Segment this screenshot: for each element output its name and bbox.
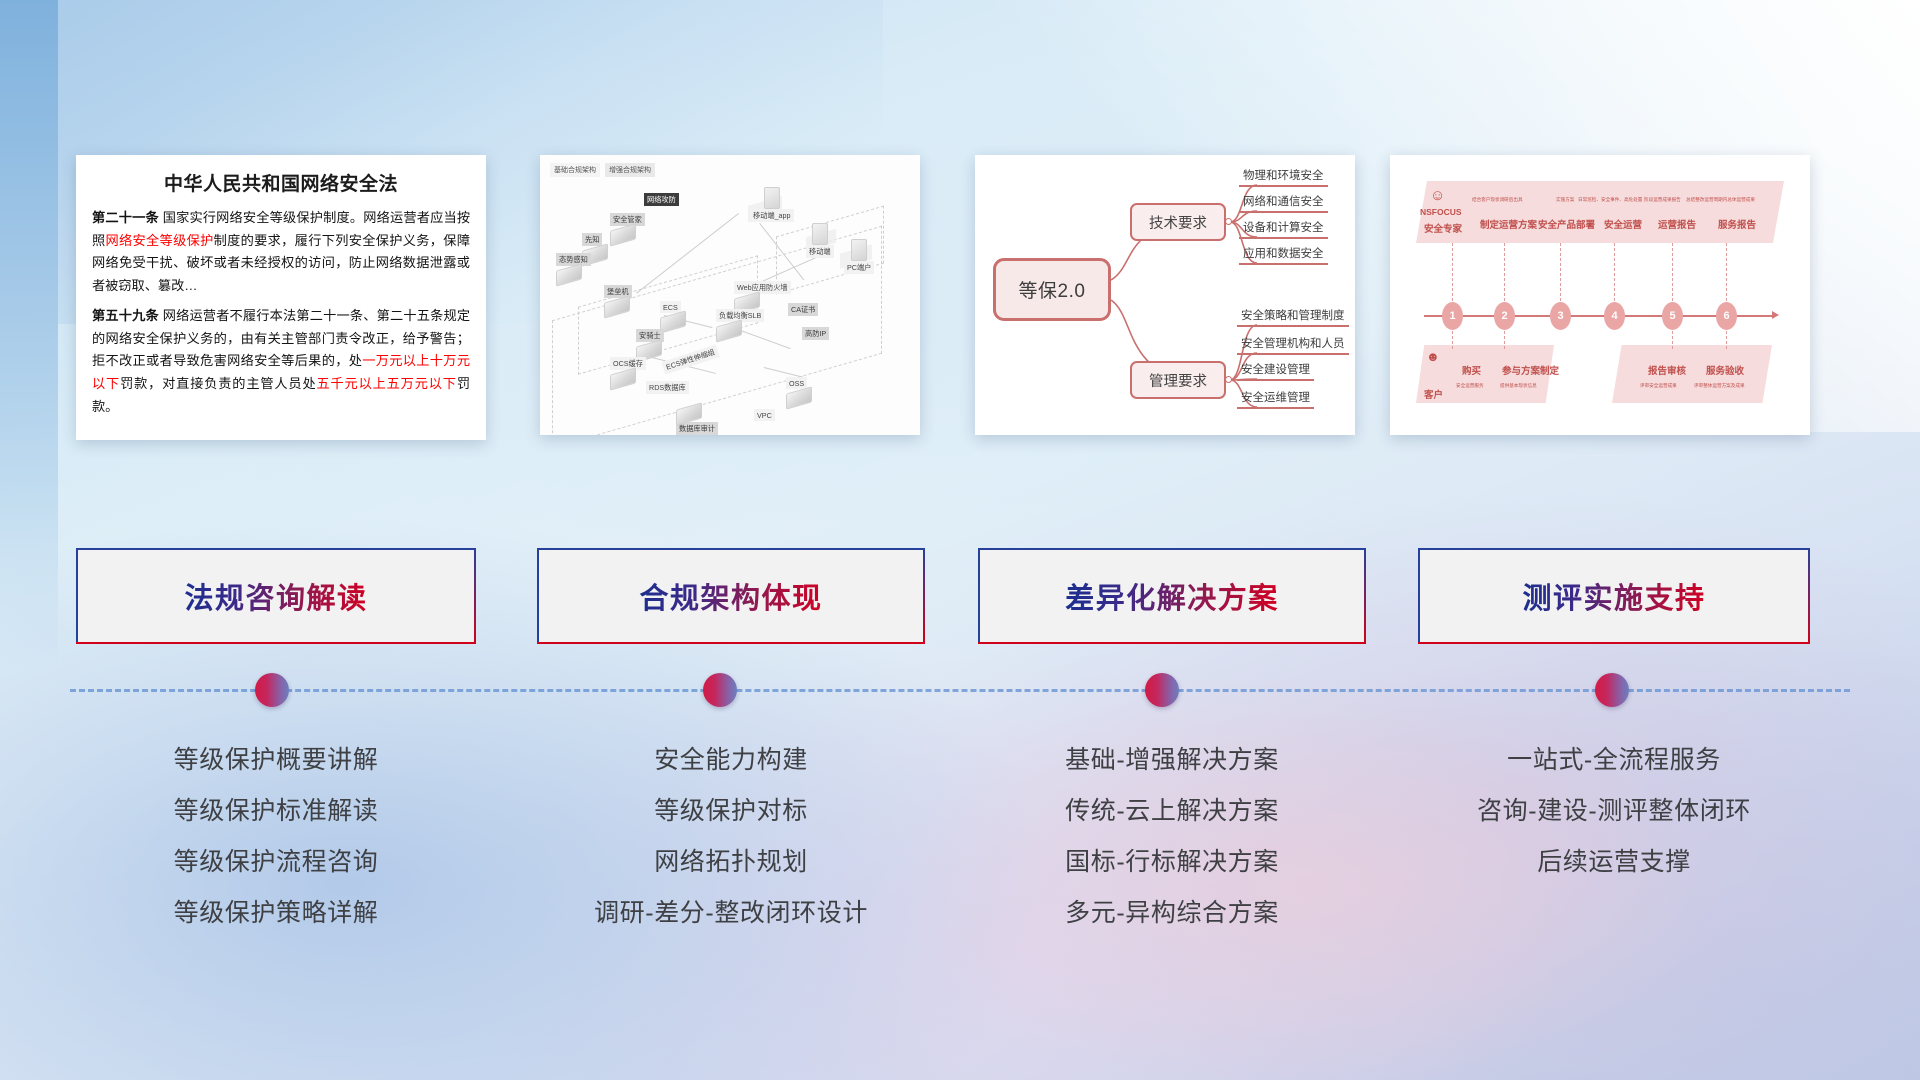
node-vpc: VPC (754, 409, 775, 421)
node-ca-certificate-label: CA证书 (788, 303, 818, 316)
nsfocus-bottom-right-band (1612, 345, 1772, 403)
node-bastion-host: 堡垒机 (604, 285, 632, 315)
nsfocus-step-3-main: 运营报告 (1658, 217, 1696, 231)
nsfocus-bottom-left-0-main: 购买 (1462, 363, 1481, 377)
mindmap-branch-technical: 技术要求 (1130, 203, 1226, 241)
nsfocus-customer-label: 客户 (1424, 387, 1443, 401)
nsfocus-step-node-5: 5 (1662, 302, 1683, 330)
nsfocus-bottom-left-1-sub: 提供基本现状信息 (1500, 383, 1537, 389)
node-db-audit: 数据库审计 (676, 405, 718, 435)
image-card-row: 中华人民共和国网络安全法 第二十一条 国家实行网络安全等级保护制度。网络运营者应… (0, 155, 1920, 455)
node-waf: Web应用防火墙 (734, 281, 791, 311)
nsfocus-timeline: ☺ NSFOCUS 安全专家 结合客户现状调研后出具 制定运营方案 实施方案 安… (1390, 155, 1810, 435)
node-db-audit-label: 数据库审计 (676, 422, 718, 435)
nsfocus-bottom-right-1-main: 服务验收 (1706, 363, 1744, 377)
node-slb: 负载均衡SLB (716, 309, 764, 339)
detail-list-1: 安全能力构建 等级保护对标 网络拓扑规划 调研-差分-整改闭环设计 (537, 735, 925, 939)
nsfocus-step-node-3: 3 (1550, 302, 1571, 330)
timeline-dashed-line (70, 689, 1850, 692)
mindmap-leaf-mgmt-2: 安全建设管理 (1237, 361, 1314, 381)
list-item: 传统-云上解决方案 (978, 786, 1366, 837)
nsfocus-step-node-6: 6 (1716, 302, 1737, 330)
list-item: 咨询-建设-测评整体闭环 (1418, 786, 1810, 837)
node-oss: OSS (786, 377, 812, 406)
card-mindmap-dengbao: 等保2.0 技术要求 管理要求 物理和环境安全 网络和通信安全 设备和计算安全 … (975, 155, 1355, 435)
list-item: 后续运营支撑 (1418, 837, 1810, 888)
mindmap-root-node: 等保2.0 (993, 258, 1111, 321)
heading-label-1: 合规架构体现 (639, 575, 822, 617)
nsfocus-connector-b1 (1452, 331, 1453, 349)
timeline-dot-1[interactable] (703, 673, 737, 707)
timeline-dot-2[interactable] (1145, 673, 1179, 707)
list-item: 网络拓扑规划 (537, 837, 925, 888)
nsfocus-connector-b2 (1504, 331, 1505, 349)
card-cybersecurity-law: 中华人民共和国网络安全法 第二十一条 国家实行网络安全等级保护制度。网络运营者应… (76, 155, 486, 440)
timeline (0, 665, 1920, 715)
node-ddos-label: 网络攻防 (644, 193, 679, 206)
list-item: 多元-异构综合方案 (978, 888, 1366, 939)
nsfocus-step-0-main: 制定运营方案 (1480, 217, 1537, 231)
law-article-59: 第五十九条 网络运营者不履行本法第二十一条、第二十五条规定的网络安全保护义务的，… (92, 305, 470, 419)
node-rds: RDS数据库 (646, 381, 689, 394)
law-title: 中华人民共和国网络安全法 (92, 169, 470, 196)
list-item: 调研-差分-整改闭环设计 (537, 888, 925, 939)
node-vpc-label: VPC (754, 409, 775, 421)
nsfocus-connector-5 (1672, 243, 1673, 301)
nsfocus-step-1-sub: 实施方案 (1556, 197, 1574, 203)
node-oss-icon (786, 386, 812, 409)
mindmap-leaf-tech-0: 物理和环境安全 (1239, 167, 1328, 187)
nsfocus-axis-arrow-icon (1772, 311, 1779, 319)
law-article-59-lead: 第五十九条 (92, 308, 159, 323)
node-situation-awareness: 态势感知 (556, 253, 591, 283)
law-article-59-text-b: 罚款，对直接负责的主管人员处 (120, 376, 316, 391)
nsfocus-bottom-left-0-sub: 安全运营服务 (1456, 383, 1484, 389)
mindmap: 等保2.0 技术要求 管理要求 物理和环境安全 网络和通信安全 设备和计算安全 … (975, 155, 1355, 435)
nsfocus-connector-b5 (1672, 331, 1673, 349)
node-ocs-cache: OCS缓存 (610, 357, 646, 387)
tab-enhanced-architecture: 增强合规架构 (605, 163, 655, 177)
list-item: 一站式-全流程服务 (1418, 735, 1810, 786)
mindmap-leaf-tech-2: 设备和计算安全 (1239, 219, 1328, 239)
node-rds-label: RDS数据库 (646, 381, 689, 394)
mindmap-leaf-mgmt-0: 安全策略和管理制度 (1237, 307, 1349, 327)
node-mobile-client: 移动端 (806, 223, 834, 258)
node-situation-awareness-label: 态势感知 (556, 253, 591, 266)
node-ca-certificate: CA证书 (788, 303, 818, 316)
architecture-tabs: 基础合规架构 增强合规架构 (550, 163, 655, 177)
node-pc-client-label: PC端户 (844, 261, 874, 274)
node-mobile-client-label: 移动端 (806, 245, 834, 258)
detail-list-0: 等级保护概要讲解 等级保护标准解读 等级保护流程咨询 等级保护策略详解 (76, 735, 476, 939)
card-nsfocus-service-timeline: ☺ NSFOCUS 安全专家 结合客户现状调研后出具 制定运营方案 实施方案 安… (1390, 155, 1810, 435)
heading-box-compliance-architecture[interactable]: 合规架构体现 (537, 548, 925, 644)
timeline-dot-3[interactable] (1595, 673, 1629, 707)
node-security-butler-label: 安全管家 (610, 213, 645, 226)
nsfocus-step-node-4: 4 (1604, 302, 1625, 330)
law-article-21-highlight: 网络安全等级保护 (106, 233, 214, 248)
nsfocus-top-band (1416, 181, 1784, 243)
detail-list-3: 一站式-全流程服务 咨询-建设-测评整体闭环 后续运营支撑 (1418, 735, 1810, 888)
nsfocus-brand-line1: NSFOCUS (1420, 207, 1462, 217)
node-mobile-app-label: 移动端_app (750, 209, 794, 222)
nsfocus-connector-3 (1560, 243, 1561, 301)
law-article-59-highlight-2: 五千元以上五万元以下 (317, 376, 457, 391)
mindmap-leaf-tech-1: 网络和通信安全 (1239, 193, 1328, 213)
card-compliance-architecture: 基础合规架构 增强合规架构 (540, 155, 920, 435)
expert-icon: ☺ (1430, 187, 1445, 204)
nsfocus-connector-4 (1614, 243, 1615, 301)
tab-basic-architecture: 基础合规架构 (550, 163, 600, 177)
list-item: 等级保护对标 (537, 786, 925, 837)
node-ecs: ECS (660, 301, 686, 330)
node-mobile-app-icon (764, 187, 780, 209)
nsfocus-connector-6 (1726, 243, 1727, 301)
node-ocs-cache-label: OCS缓存 (610, 357, 646, 370)
nsfocus-bottom-right-1-sub: 评审整体运营方案及成果 (1694, 383, 1745, 389)
nsfocus-step-0-sub: 结合客户现状调研后出具 (1472, 197, 1523, 203)
node-pc-client: PC端户 (844, 239, 874, 274)
heading-box-differentiated-solutions[interactable]: 差异化解决方案 (978, 548, 1366, 644)
node-waf-label: Web应用防火墙 (734, 281, 791, 294)
law-article-21-lead: 第二十一条 (92, 210, 159, 225)
list-item: 基础-增强解决方案 (978, 735, 1366, 786)
mindmap-collapse-dot-technical (1225, 218, 1232, 225)
nsfocus-connector-2 (1504, 243, 1505, 301)
heading-label-0: 法规咨询解读 (184, 575, 367, 617)
node-pc-client-icon (851, 239, 867, 261)
list-item: 等级保护标准解读 (76, 786, 476, 837)
heading-box-row: 法规咨询解读 合规架构体现 差异化解决方案 测评实施支持 (0, 548, 1920, 646)
node-oss-label: OSS (786, 377, 807, 389)
customer-icon: ☻ (1426, 349, 1440, 364)
list-item: 国标-行标解决方案 (978, 837, 1366, 888)
node-security-butler: 安全管家 (610, 213, 645, 243)
nsfocus-step-2-sub: 日常巡检、安全事件、高危处置 (1578, 197, 1642, 203)
law-article-21: 第二十一条 国家实行网络安全等级保护制度。网络运营者应当按照网络安全等级保护制度… (92, 207, 470, 298)
nsfocus-bottom-right-0-sub: 评审安全运营成果 (1640, 383, 1677, 389)
nsfocus-bottom-right-0-main: 报告审核 (1648, 363, 1686, 377)
node-anti-ddos-ip: 高防IP (802, 327, 829, 340)
node-ecs-label: ECS (660, 301, 681, 313)
law-body: 中华人民共和国网络安全法 第二十一条 国家实行网络安全等级保护制度。网络运营者应… (76, 155, 486, 433)
list-item: 等级保护流程咨询 (76, 837, 476, 888)
nsfocus-step-4-sub: 总结整改运营周期内总体运营成果 (1686, 197, 1755, 203)
nsfocus-step-1-main: 安全产品部署 (1538, 217, 1595, 231)
node-mobile-app: 移动端_app (750, 187, 794, 222)
node-anti-ddos-ip-label: 高防IP (802, 327, 829, 340)
heading-label-2: 差异化解决方案 (1065, 575, 1279, 617)
detail-list-row: 等级保护概要讲解 等级保护标准解读 等级保护流程咨询 等级保护策略详解 安全能力… (0, 735, 1920, 935)
detail-list-2: 基础-增强解决方案 传统-云上解决方案 国标-行标解决方案 多元-异构综合方案 (978, 735, 1366, 939)
node-security-butler-icon (610, 223, 636, 246)
architecture-diagram: 基础合规架构 增强合规架构 (540, 155, 920, 435)
node-situation-awareness-icon (556, 263, 582, 286)
list-item: 安全能力构建 (537, 735, 925, 786)
nsfocus-step-2-main: 安全运营 (1604, 217, 1642, 231)
mindmap-collapse-dot-management (1225, 376, 1232, 383)
timeline-dot-0[interactable] (255, 673, 289, 707)
nsfocus-connector-1 (1452, 243, 1453, 301)
list-item: 等级保护策略详解 (76, 888, 476, 939)
heading-box-assessment-support[interactable]: 测评实施支持 (1418, 548, 1810, 644)
node-mobile-client-icon (812, 223, 828, 245)
nsfocus-step-node-2: 2 (1494, 302, 1515, 330)
heading-box-regulation-consulting[interactable]: 法规咨询解读 (76, 548, 476, 644)
node-anqishi: 安骑士 (636, 329, 664, 359)
nsfocus-step-3-sub: 阶段运营成果报告 (1644, 197, 1681, 203)
heading-label-3: 测评实施支持 (1522, 575, 1705, 617)
mindmap-leaf-mgmt-3: 安全运维管理 (1237, 389, 1314, 409)
mindmap-branch-management: 管理要求 (1130, 361, 1226, 399)
architecture-canvas: 网络攻防 安全管家 先知 态势感知 堡垒机 (548, 181, 912, 427)
nsfocus-step-4-main: 服务报告 (1718, 217, 1756, 231)
node-xianzhi-label: 先知 (582, 233, 602, 246)
nsfocus-step-node-1: 1 (1442, 302, 1463, 330)
node-ddos: 网络攻防 (644, 193, 679, 206)
mindmap-leaf-mgmt-1: 安全管理机构和人员 (1237, 335, 1349, 355)
nsfocus-connector-b6 (1726, 331, 1727, 349)
list-item: 等级保护概要讲解 (76, 735, 476, 786)
nsfocus-brand-line2: 安全专家 (1424, 221, 1462, 235)
nsfocus-bottom-left-1-main: 参与方案制定 (1502, 363, 1559, 377)
mindmap-leaf-tech-3: 应用和数据安全 (1239, 245, 1328, 265)
